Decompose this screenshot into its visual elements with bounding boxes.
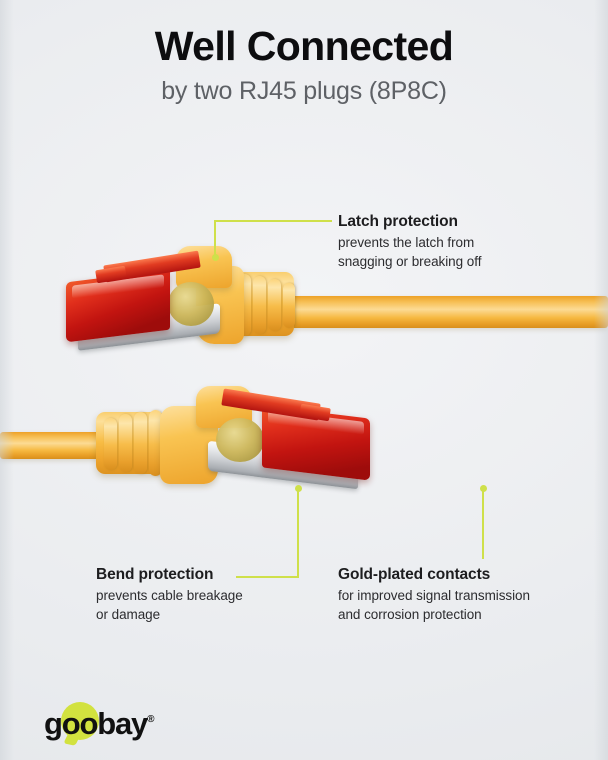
leader-line-bend-vertical: [297, 489, 299, 577]
callout-body: for improved signal transmission and cor…: [338, 587, 588, 623]
logo-wordmark: goobay®: [44, 708, 153, 739]
callout-gold-plated-contacts: Gold-plated contacts for improved signal…: [338, 565, 588, 624]
page-title: Well Connected: [0, 0, 608, 70]
boot-rib: [283, 283, 295, 328]
goobay-logo: goobay®: [44, 706, 153, 740]
header: Well Connected by two RJ45 plugs (8P8C): [0, 0, 608, 106]
boot-rib: [253, 276, 266, 334]
leader-line-gold-vertical: [482, 489, 484, 559]
callout-latch-protection: Latch protection prevents the latch from…: [338, 212, 588, 271]
boot-rib: [268, 279, 281, 331]
boot-rib: [134, 412, 147, 474]
callout-bend-protection: Bend protection prevents cable breakage …: [96, 565, 316, 624]
callout-body: prevents the latch from snagging or brea…: [338, 234, 588, 270]
page-subtitle: by two RJ45 plugs (8P8C): [0, 70, 608, 106]
callout-heading: Latch protection: [338, 212, 588, 231]
logo-letters-oo: oo: [62, 706, 97, 741]
logo-letters-bay: bay: [97, 706, 147, 741]
callout-heading: Bend protection: [96, 565, 316, 584]
product-photo: [0, 150, 608, 530]
gold-contacts-bottom: [216, 418, 264, 462]
logo-registered-mark: ®: [147, 714, 153, 725]
gold-contacts-top: [168, 282, 214, 326]
logo-letter-g: g: [44, 706, 62, 741]
boot-rib: [119, 414, 132, 472]
leader-line-latch-vertical: [214, 220, 216, 258]
boot-rib: [104, 418, 117, 470]
leader-line-latch-horizontal: [214, 220, 332, 222]
infographic-canvas: Well Connected by two RJ45 plugs (8P8C): [0, 0, 608, 760]
callout-body: prevents cable breakage or damage: [96, 587, 316, 623]
cable-strand-top: [240, 296, 608, 328]
callout-heading: Gold-plated contacts: [338, 565, 588, 584]
